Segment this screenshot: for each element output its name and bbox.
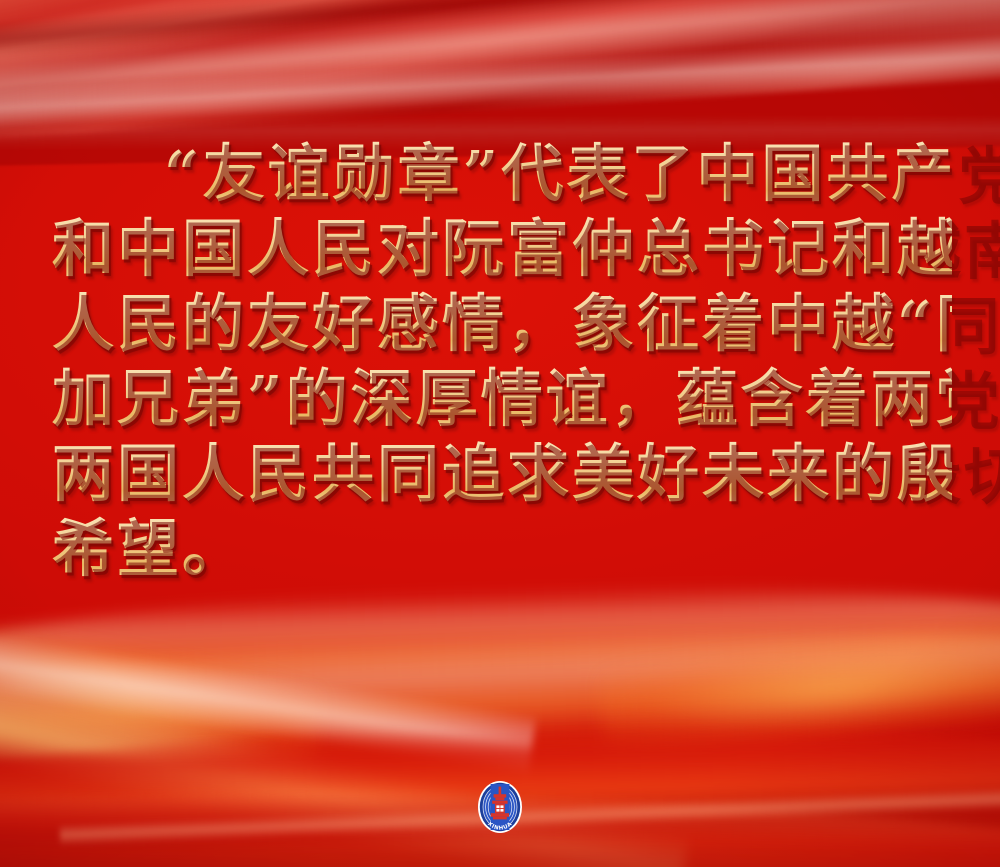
poster-canvas: “友谊勋章”代表了中国共产党 和中国人民对阮富仲总书记和越南 人民的友好感情，象…	[0, 0, 1000, 867]
quote-text-block: “友谊勋章”代表了中国共产党 和中国人民对阮富仲总书记和越南 人民的友好感情，象…	[52, 136, 952, 586]
quote-line-5: 两国人民共同追求美好未来的殷切	[52, 436, 952, 511]
quote-line-3: 人民的友好感情，象征着中越“同志	[52, 286, 952, 361]
quote-line-4: 加兄弟”的深厚情谊，蕴含着两党和	[52, 361, 952, 436]
quote-line-1: “友谊勋章”代表了中国共产党	[52, 136, 952, 211]
xinhua-logo-icon: XINHUA	[477, 780, 523, 834]
xinhua-logo: XINHUA	[477, 780, 523, 834]
quote-line-6: 希望。	[52, 511, 952, 586]
quote-line-2: 和中国人民对阮富仲总书记和越南	[52, 211, 952, 286]
